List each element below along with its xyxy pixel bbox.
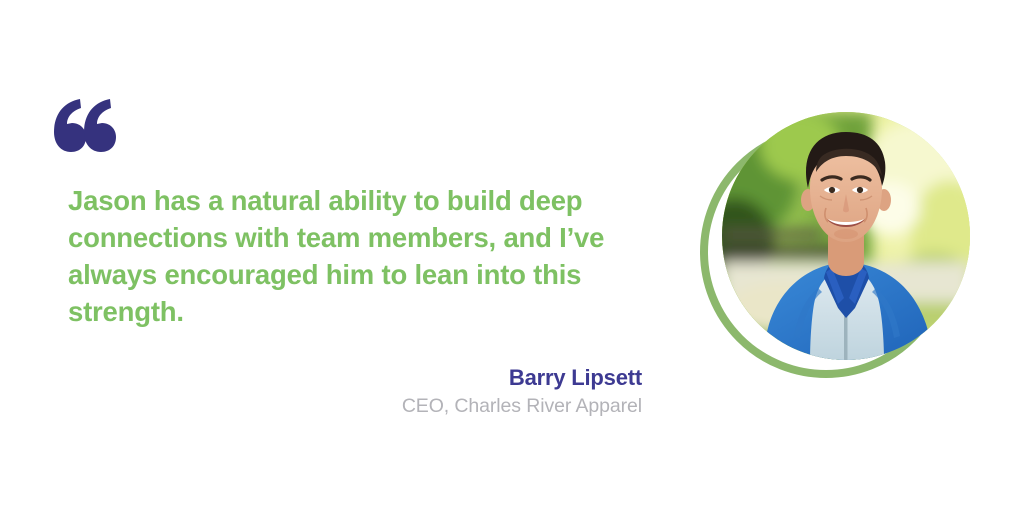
headshot-illustration (722, 112, 970, 360)
left-double-quotation-mark-icon (50, 96, 120, 166)
barry-lipsett-headshot (722, 112, 970, 360)
quote-text: Jason has a natural ability to build dee… (68, 182, 668, 330)
portrait-block (700, 112, 990, 390)
testimonial-card: Jason has a natural ability to build dee… (0, 0, 1024, 512)
author-name: Barry Lipsett (240, 364, 642, 392)
quote-glyph-shape (50, 96, 120, 166)
attribution: Barry Lipsett CEO, Charles River Apparel (240, 364, 642, 419)
author-role: CEO, Charles River Apparel (240, 393, 642, 419)
